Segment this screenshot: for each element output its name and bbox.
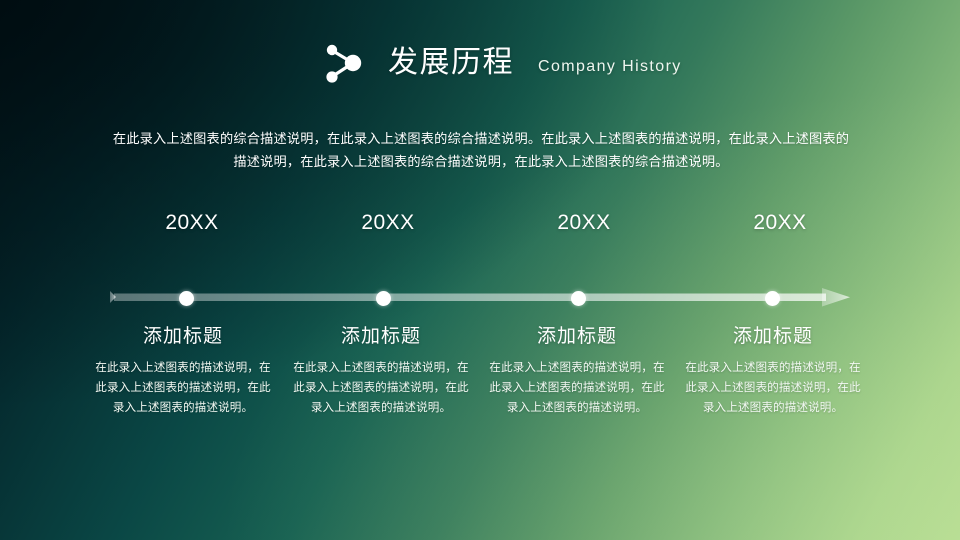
timeline: 20XX 20XX 20XX 20XX <box>0 205 960 320</box>
page-subtitle: Company History <box>538 59 682 75</box>
milestone-body-1: 在此录入上述图表的描述说明，在此录入上述图表的描述说明，在此录入上述图表的描述说… <box>90 358 276 418</box>
slide-header: 发展历程 Company History <box>318 34 682 92</box>
timeline-year-3: 20XX <box>524 211 644 235</box>
timeline-axis-arrow <box>110 284 855 314</box>
page-title: 发展历程 <box>388 48 514 78</box>
slide-canvas: 发展历程 Company History 在此录入上述图表的综合描述说明，在此录… <box>0 0 960 540</box>
description-paragraph: 在此录入上述图表的综合描述说明，在此录入上述图表的综合描述说明。在此录入上述图表… <box>110 127 852 173</box>
milestone-body-3: 在此录入上述图表的描述说明，在此录入上述图表的描述说明，在此录入上述图表的描述说… <box>484 358 670 418</box>
timeline-node-4[interactable] <box>765 291 780 306</box>
milestone-item-4[interactable]: 添加标题 在此录入上述图表的描述说明，在此录入上述图表的描述说明，在此录入上述图… <box>680 325 866 418</box>
timeline-year-labels: 20XX 20XX 20XX 20XX <box>0 205 960 251</box>
milestone-title-3: 添加标题 <box>484 325 670 349</box>
milestone-title-1: 添加标题 <box>90 325 276 349</box>
timeline-node-3[interactable] <box>571 291 586 306</box>
timeline-year-1: 20XX <box>132 211 252 235</box>
milestone-item-2[interactable]: 添加标题 在此录入上述图表的描述说明，在此录入上述图表的描述说明，在此录入上述图… <box>288 325 474 418</box>
milestone-item-3[interactable]: 添加标题 在此录入上述图表的描述说明，在此录入上述图表的描述说明，在此录入上述图… <box>484 325 670 418</box>
milestone-item-1[interactable]: 添加标题 在此录入上述图表的描述说明，在此录入上述图表的描述说明，在此录入上述图… <box>90 325 276 418</box>
milestone-body-4: 在此录入上述图表的描述说明，在此录入上述图表的描述说明，在此录入上述图表的描述说… <box>680 358 866 418</box>
milestone-body-2: 在此录入上述图表的描述说明，在此录入上述图表的描述说明，在此录入上述图表的描述说… <box>288 358 474 418</box>
timeline-year-2: 20XX <box>328 211 448 235</box>
milestone-title-2: 添加标题 <box>288 325 474 349</box>
share-network-icon <box>318 37 370 89</box>
timeline-node-2[interactable] <box>376 291 391 306</box>
milestone-title-4: 添加标题 <box>680 325 866 349</box>
milestone-columns: 添加标题 在此录入上述图表的描述说明，在此录入上述图表的描述说明，在此录入上述图… <box>0 325 960 495</box>
timeline-year-4: 20XX <box>720 211 840 235</box>
timeline-node-1[interactable] <box>179 291 194 306</box>
